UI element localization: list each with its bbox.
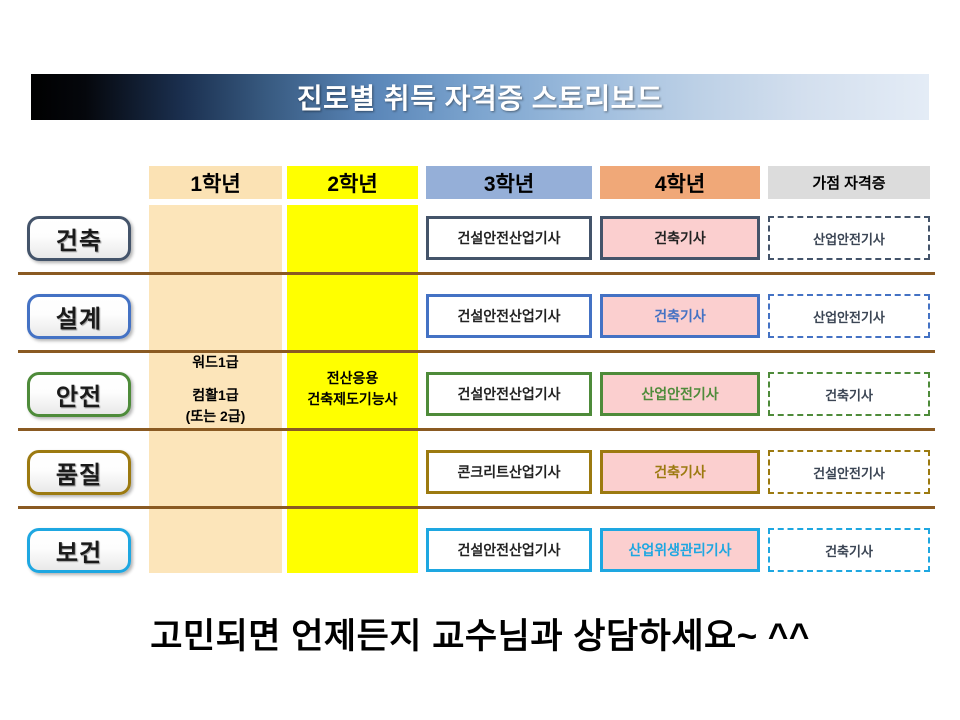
year1-line-3: (또는 2급) [186,406,246,427]
page-title: 진로별 취득 자격증 스토리보드 [297,77,663,117]
year1-band-text: 워드1급 컴활1급 (또는 2급) [186,352,246,427]
column-header-year4: 4학년 [600,166,760,199]
column-header-year1: 1학년 [149,166,282,199]
row-separator [18,272,935,275]
cert-cell-bonus-0[interactable]: 산업안전기사 [768,216,930,260]
cert-cell-year3-2[interactable]: 건설안전산업기사 [426,372,592,416]
year1-band: 워드1급 컴활1급 (또는 2급) [149,205,282,573]
year2-band-text: 전산응용 건축제도기능사 [307,368,397,410]
track-label-2[interactable]: 안전 [27,372,131,417]
cert-cell-year3-1[interactable]: 건설안전산업기사 [426,294,592,338]
track-label-text: 건축 [56,221,102,256]
year2-line-1: 전산응용 [307,368,397,389]
cert-cell-bonus-1[interactable]: 산업안전기사 [768,294,930,338]
row-separator [18,350,935,353]
year2-band: 전산응용 건축제도기능사 [287,205,418,573]
track-label-text: 안전 [56,377,102,412]
cert-cell-bonus-4[interactable]: 건축기사 [768,528,930,572]
track-label-4[interactable]: 보건 [27,528,131,573]
cert-cell-year4-2[interactable]: 산업안전기사 [600,372,760,416]
track-label-3[interactable]: 품질 [27,450,131,495]
footer-note: 고민되면 언제든지 교수님과 상담하세요~ ^^ [0,608,960,659]
track-label-0[interactable]: 건축 [27,216,131,261]
row-separator [18,506,935,509]
title-banner: 진로별 취득 자격증 스토리보드 [31,74,929,120]
column-header-year2: 2학년 [287,166,418,199]
year2-line-2: 건축제도기능사 [307,389,397,410]
track-label-text: 보건 [56,533,102,568]
cert-cell-year4-1[interactable]: 건축기사 [600,294,760,338]
cert-cell-year4-3[interactable]: 건축기사 [600,450,760,494]
column-header-year3: 3학년 [426,166,592,199]
track-label-text: 설계 [56,299,102,334]
cert-cell-bonus-3[interactable]: 건설안전기사 [768,450,930,494]
year1-line-1: 워드1급 [186,352,246,373]
cert-cell-year3-0[interactable]: 건설안전산업기사 [426,216,592,260]
year1-line-2: 컴활1급 [186,385,246,406]
track-label-1[interactable]: 설계 [27,294,131,339]
cert-cell-year3-4[interactable]: 건설안전산업기사 [426,528,592,572]
row-separator [18,428,935,431]
column-header-bonus: 가점 자격증 [768,166,930,199]
cert-cell-year3-3[interactable]: 콘크리트산업기사 [426,450,592,494]
track-label-text: 품질 [56,455,102,490]
cert-cell-year4-0[interactable]: 건축기사 [600,216,760,260]
cert-cell-year4-4[interactable]: 산업위생관리기사 [600,528,760,572]
cert-cell-bonus-2[interactable]: 건축기사 [768,372,930,416]
